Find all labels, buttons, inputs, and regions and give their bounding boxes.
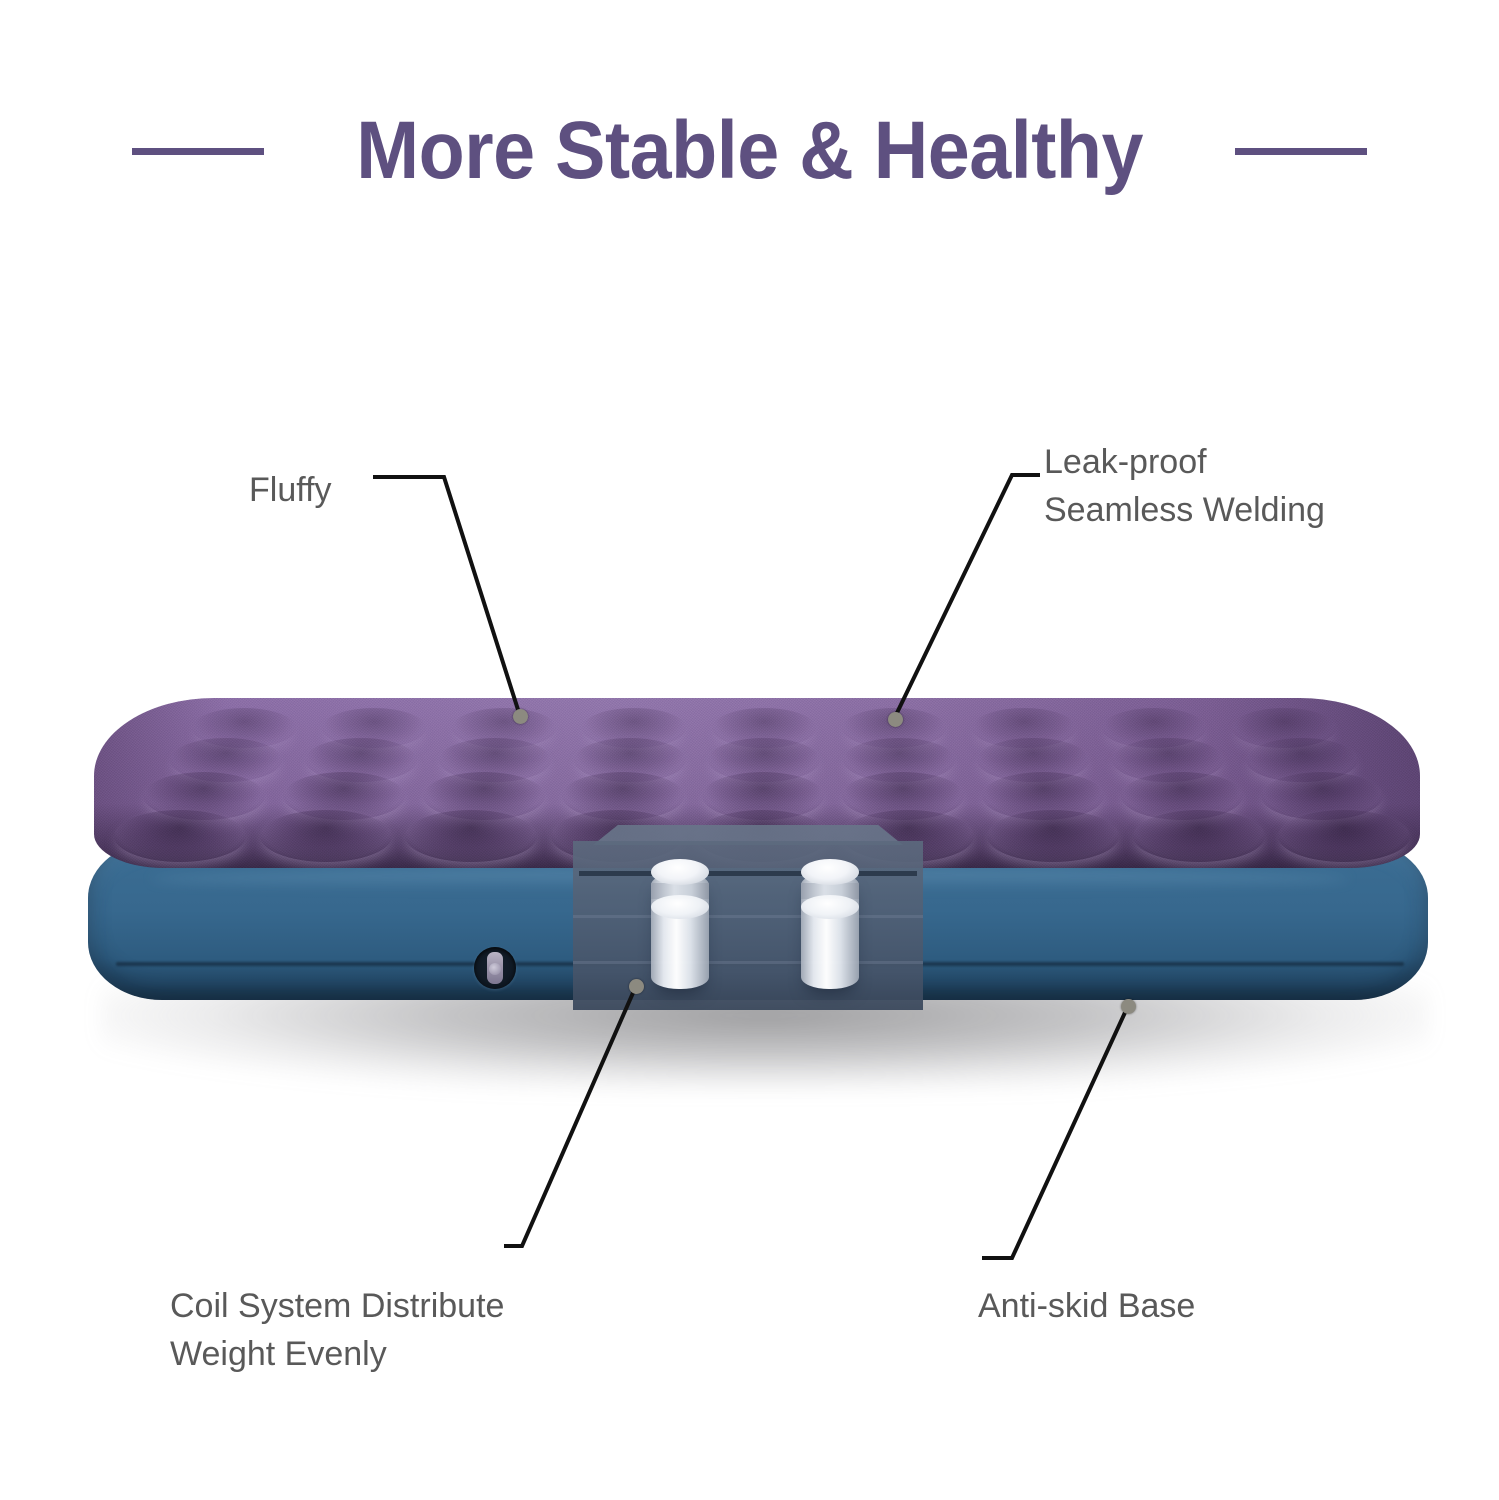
coil-dimple — [170, 738, 282, 782]
coil-top-cap — [801, 859, 859, 885]
callout-label-coil: Coil System Distribute Weight Evenly — [170, 1282, 504, 1379]
coil-dimple — [114, 810, 246, 862]
coil-second-cap — [651, 895, 709, 919]
coil-dimple — [423, 772, 545, 820]
coil-dimple — [283, 772, 405, 820]
coil-dimple — [582, 708, 686, 748]
coil-dimple — [260, 810, 392, 862]
cutaway-coil-panel — [573, 825, 923, 1010]
coil-dimple — [708, 738, 820, 782]
callout-label-fluffy: Fluffy — [249, 466, 332, 514]
coil-dimple-grid — [94, 698, 1420, 758]
coil-dimple — [1102, 708, 1206, 748]
coil-dimple — [712, 708, 816, 748]
valve-plug — [487, 952, 503, 984]
coil-dimple — [143, 772, 265, 820]
callout-coil-line2: Weight Evenly — [170, 1330, 504, 1378]
coil-dimple — [562, 772, 684, 820]
callout-antiskid-line1: Anti-skid Base — [978, 1282, 1195, 1330]
coil-dimple — [192, 708, 296, 748]
callout-leakproof-line2: Seamless Welding — [1044, 486, 1325, 534]
cutaway-seam-line — [579, 871, 917, 876]
coil-dimple — [702, 772, 824, 820]
coil-dimple — [982, 772, 1104, 820]
callout-label-leakproof: Leak-proof Seamless Welding — [1044, 438, 1325, 535]
internal-coil-left — [651, 859, 709, 989]
coil-dimple — [574, 738, 686, 782]
internal-coil-right — [801, 859, 859, 989]
callout-coil-line1: Coil System Distribute — [170, 1282, 504, 1330]
coil-dimple — [977, 738, 1089, 782]
coil-dimple — [1278, 810, 1410, 862]
air-valve — [474, 947, 516, 989]
coil-dimple — [322, 708, 426, 748]
coil-dimple — [842, 772, 964, 820]
title-dash-left — [132, 148, 264, 155]
coil-dimple — [1133, 810, 1265, 862]
coil-dimple — [843, 738, 955, 782]
coil-dimple — [1121, 772, 1243, 820]
callout-leakproof-line1: Leak-proof — [1044, 438, 1325, 486]
coil-dimple — [1232, 708, 1336, 748]
leader-endpoint-leakproof — [888, 712, 903, 727]
product-image-air-mattress — [0, 640, 1499, 1100]
callout-label-antiskid: Anti-skid Base — [978, 1282, 1195, 1330]
coil-dimple — [305, 738, 417, 782]
coil-top-cap — [651, 859, 709, 885]
cutaway-wave-1 — [573, 915, 923, 918]
leader-endpoint-antiskid — [1121, 999, 1136, 1014]
cutaway-front-face — [573, 841, 923, 1010]
coil-dimple — [1246, 738, 1358, 782]
coil-dimple — [452, 708, 556, 748]
coil-dimple — [1261, 772, 1383, 820]
title-dash-right — [1235, 148, 1367, 155]
coil-second-cap — [801, 895, 859, 919]
callout-fluffy-line1: Fluffy — [249, 466, 332, 514]
coil-dimple — [987, 810, 1119, 862]
page-title: More Stable & Healthy — [356, 110, 1143, 192]
coil-dimple — [972, 708, 1076, 748]
leader-endpoint-fluffy — [513, 709, 528, 724]
coil-dimple — [1112, 738, 1224, 782]
leader-endpoint-coil — [629, 979, 644, 994]
coil-dimple — [405, 810, 537, 862]
title-row: More Stable & Healthy — [0, 96, 1499, 206]
infographic-page: More Stable & Healthy — [0, 0, 1499, 1500]
coil-dimple — [439, 738, 551, 782]
cutaway-wave-2 — [573, 961, 923, 964]
